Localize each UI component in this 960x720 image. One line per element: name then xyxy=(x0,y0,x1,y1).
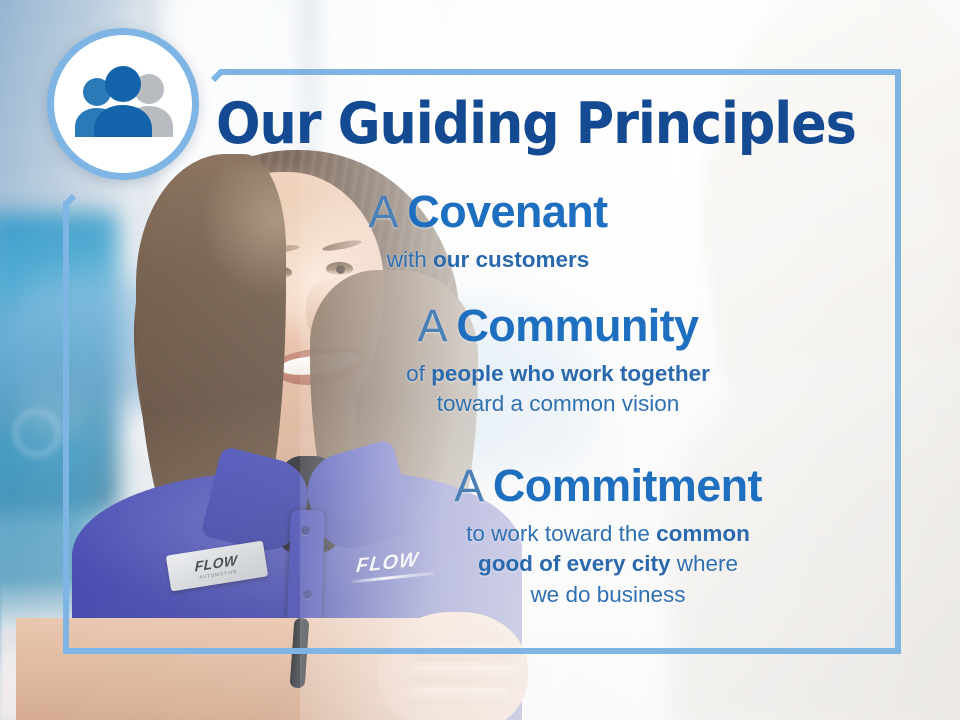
subtitle-emphasis: people who work together xyxy=(431,361,710,386)
subtitle-text: to work toward the xyxy=(466,521,656,546)
principle-heading: A Community xyxy=(258,302,858,350)
principle-article: A xyxy=(418,300,457,351)
subtitle-text: we do business xyxy=(530,582,685,607)
text-content: Our Guiding Principles A Covenant with o… xyxy=(0,0,960,720)
principle-subtitle: with our customers xyxy=(208,245,768,275)
principle-keyword: Community xyxy=(456,300,698,351)
subtitle-emphasis: common xyxy=(656,521,750,546)
principle-commitment: A Commitment to work toward the commongo… xyxy=(298,462,918,610)
principle-subtitle: to work toward the commongood of every c… xyxy=(298,519,918,611)
subtitle-text: with xyxy=(387,247,433,272)
principle-subtitle-line: of people who work together xyxy=(258,359,858,389)
principle-article: A xyxy=(454,460,493,511)
principle-subtitle-line: with our customers xyxy=(208,245,768,275)
subtitle-text: toward a common vision xyxy=(437,391,680,416)
page-title: Our Guiding Principles xyxy=(216,96,823,153)
principle-article: A xyxy=(368,186,407,237)
subtitle-text: where xyxy=(671,551,739,576)
principle-subtitle-line: toward a common vision xyxy=(258,389,858,419)
principle-subtitle-line: good of every city where xyxy=(298,549,918,580)
principle-keyword: Commitment xyxy=(493,460,762,511)
principle-community: A Community of people who work togethert… xyxy=(258,302,858,419)
principle-subtitle-line: to work toward the common xyxy=(298,519,918,550)
subtitle-text: of xyxy=(406,361,431,386)
principle-subtitle-line: we do business xyxy=(298,580,918,611)
subtitle-emphasis: our customers xyxy=(433,247,589,272)
subtitle-emphasis: good of every city xyxy=(478,551,671,576)
principle-subtitle: of people who work togethertoward a comm… xyxy=(258,359,858,419)
principle-heading: A Covenant xyxy=(208,188,768,236)
principle-covenant: A Covenant with our customers xyxy=(208,188,768,275)
guiding-principles-poster: FLOW FLOW AUTOMOTIVE xyxy=(0,0,960,720)
principle-keyword: Covenant xyxy=(407,186,607,237)
principle-heading: A Commitment xyxy=(298,462,918,510)
